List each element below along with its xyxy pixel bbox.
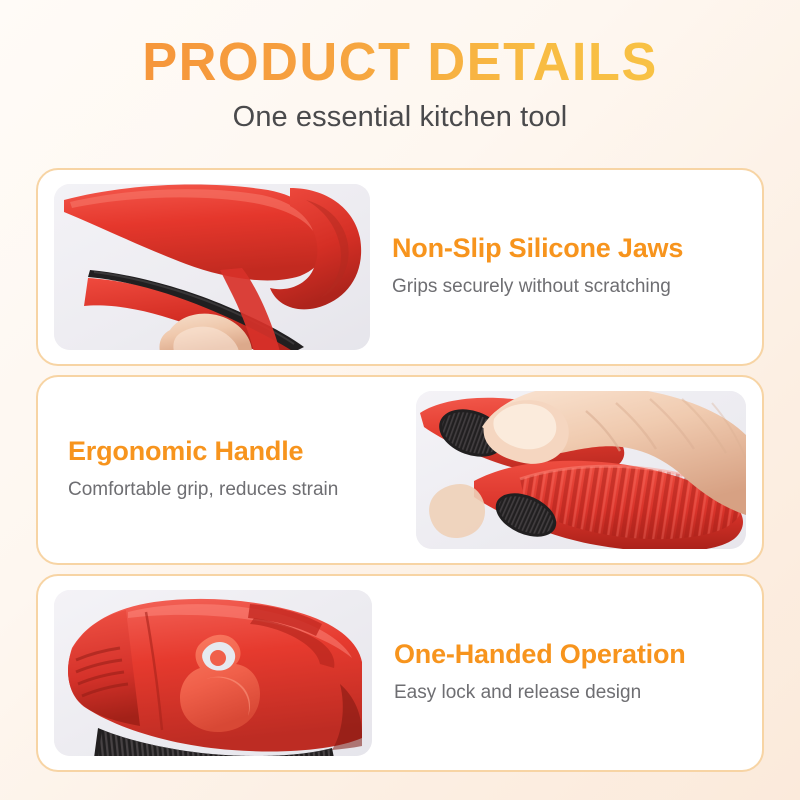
product-photo-handle bbox=[416, 391, 746, 549]
page-title: PRODUCT DETAILS bbox=[12, 34, 788, 91]
feature-description: Easy lock and release design bbox=[394, 680, 694, 707]
feature-title: Non-Slip Silicone Jaws bbox=[392, 233, 732, 264]
header: PRODUCT DETAILS One essential kitchen to… bbox=[0, 0, 800, 134]
feature-text-block: Ergonomic Handle Comfortable grip, reduc… bbox=[54, 436, 416, 504]
page-subtitle: One essential kitchen tool bbox=[0, 101, 800, 134]
feature-description: Grips securely without scratching bbox=[392, 274, 692, 301]
feature-text-block: Non-Slip Silicone Jaws Grips securely wi… bbox=[370, 233, 746, 301]
feature-card-ergonomic-handle: Ergonomic Handle Comfortable grip, reduc… bbox=[36, 375, 764, 565]
feature-card-list: Non-Slip Silicone Jaws Grips securely wi… bbox=[36, 168, 764, 772]
feature-title: Ergonomic Handle bbox=[68, 436, 394, 467]
feature-title: One-Handed Operation bbox=[394, 639, 732, 670]
feature-card-one-handed-operation: One-Handed Operation Easy lock and relea… bbox=[36, 574, 764, 772]
product-photo-lock-lever bbox=[54, 590, 372, 756]
feature-text-block: One-Handed Operation Easy lock and relea… bbox=[372, 639, 746, 707]
product-details-infographic: PRODUCT DETAILS One essential kitchen to… bbox=[0, 0, 800, 800]
feature-card-non-slip-silicone-jaws: Non-Slip Silicone Jaws Grips securely wi… bbox=[36, 168, 764, 366]
product-photo-jaws bbox=[54, 184, 370, 350]
feature-description: Comfortable grip, reduces strain bbox=[68, 477, 368, 504]
